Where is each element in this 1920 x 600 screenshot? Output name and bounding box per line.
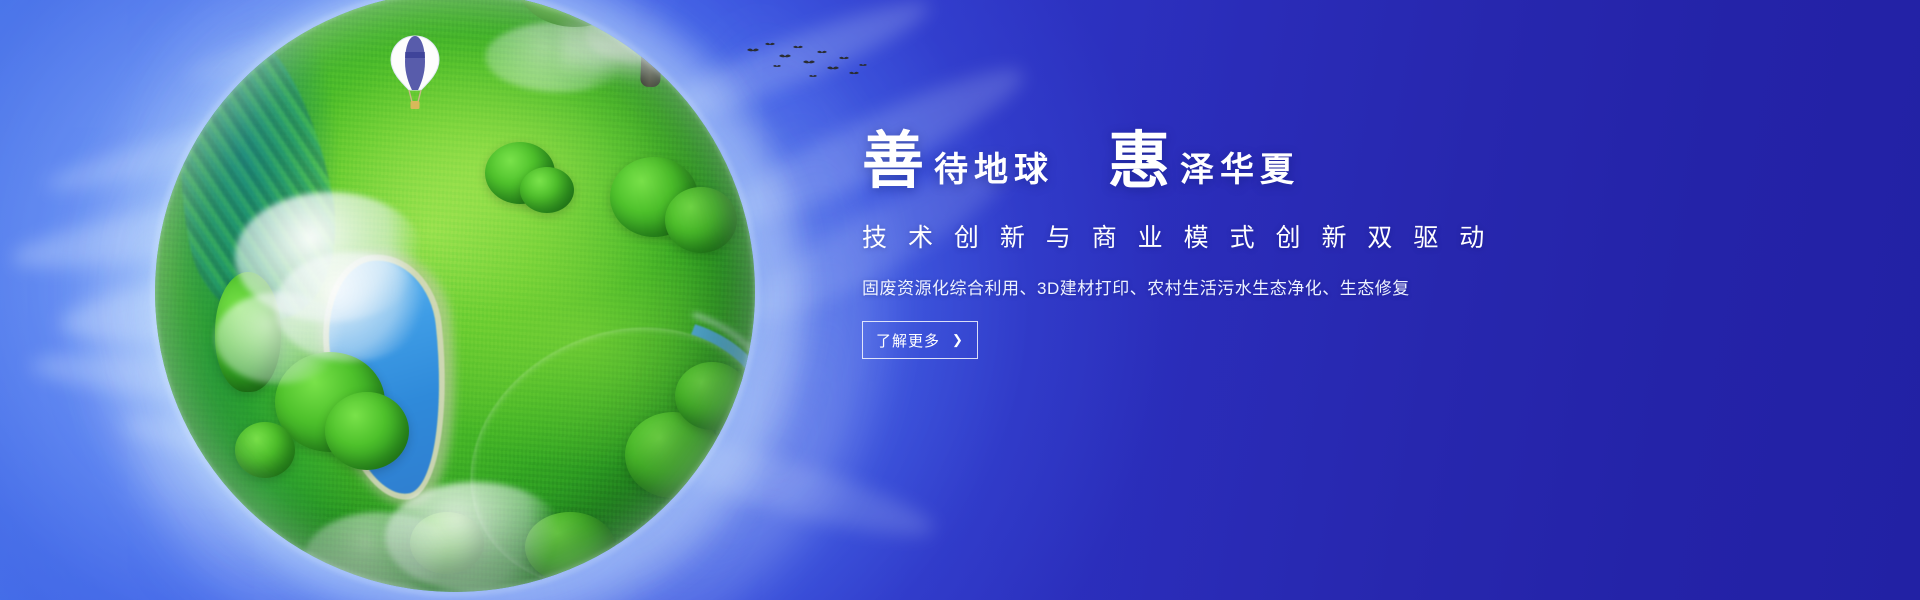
- hero-headline: 善 待地球 惠 泽华夏: [862, 130, 1562, 192]
- headline-rest-1: 待地球: [925, 153, 1054, 192]
- hero-content: 善 待地球 惠 泽华夏 技 术 创 新 与 商 业 模 式 创 新 双 驱 动 …: [862, 130, 1562, 359]
- learn-more-label: 了解更多: [876, 330, 940, 351]
- hero-subtitle: 技 术 创 新 与 商 业 模 式 创 新 双 驱 动: [862, 218, 1562, 254]
- learn-more-button[interactable]: 了解更多 ❯: [862, 321, 978, 359]
- bird-flock-icon: [743, 40, 873, 86]
- hero-description: 固废资源化综合利用、3D建材打印、农村生活污水生态净化、生态修复: [862, 274, 1562, 299]
- headline-char-1: 善: [862, 130, 925, 192]
- chevron-right-icon: ❯: [952, 333, 964, 346]
- globe-artwork: [155, 0, 755, 592]
- headline-char-2: 惠: [1108, 130, 1171, 192]
- hot-air-balloon-icon: [387, 34, 443, 120]
- hero-banner: 善 待地球 惠 泽华夏 技 术 创 新 与 商 业 模 式 创 新 双 驱 动 …: [0, 0, 1920, 600]
- headline-rest-2: 泽华夏: [1171, 153, 1300, 192]
- globe-edge-glow: [152, 0, 758, 595]
